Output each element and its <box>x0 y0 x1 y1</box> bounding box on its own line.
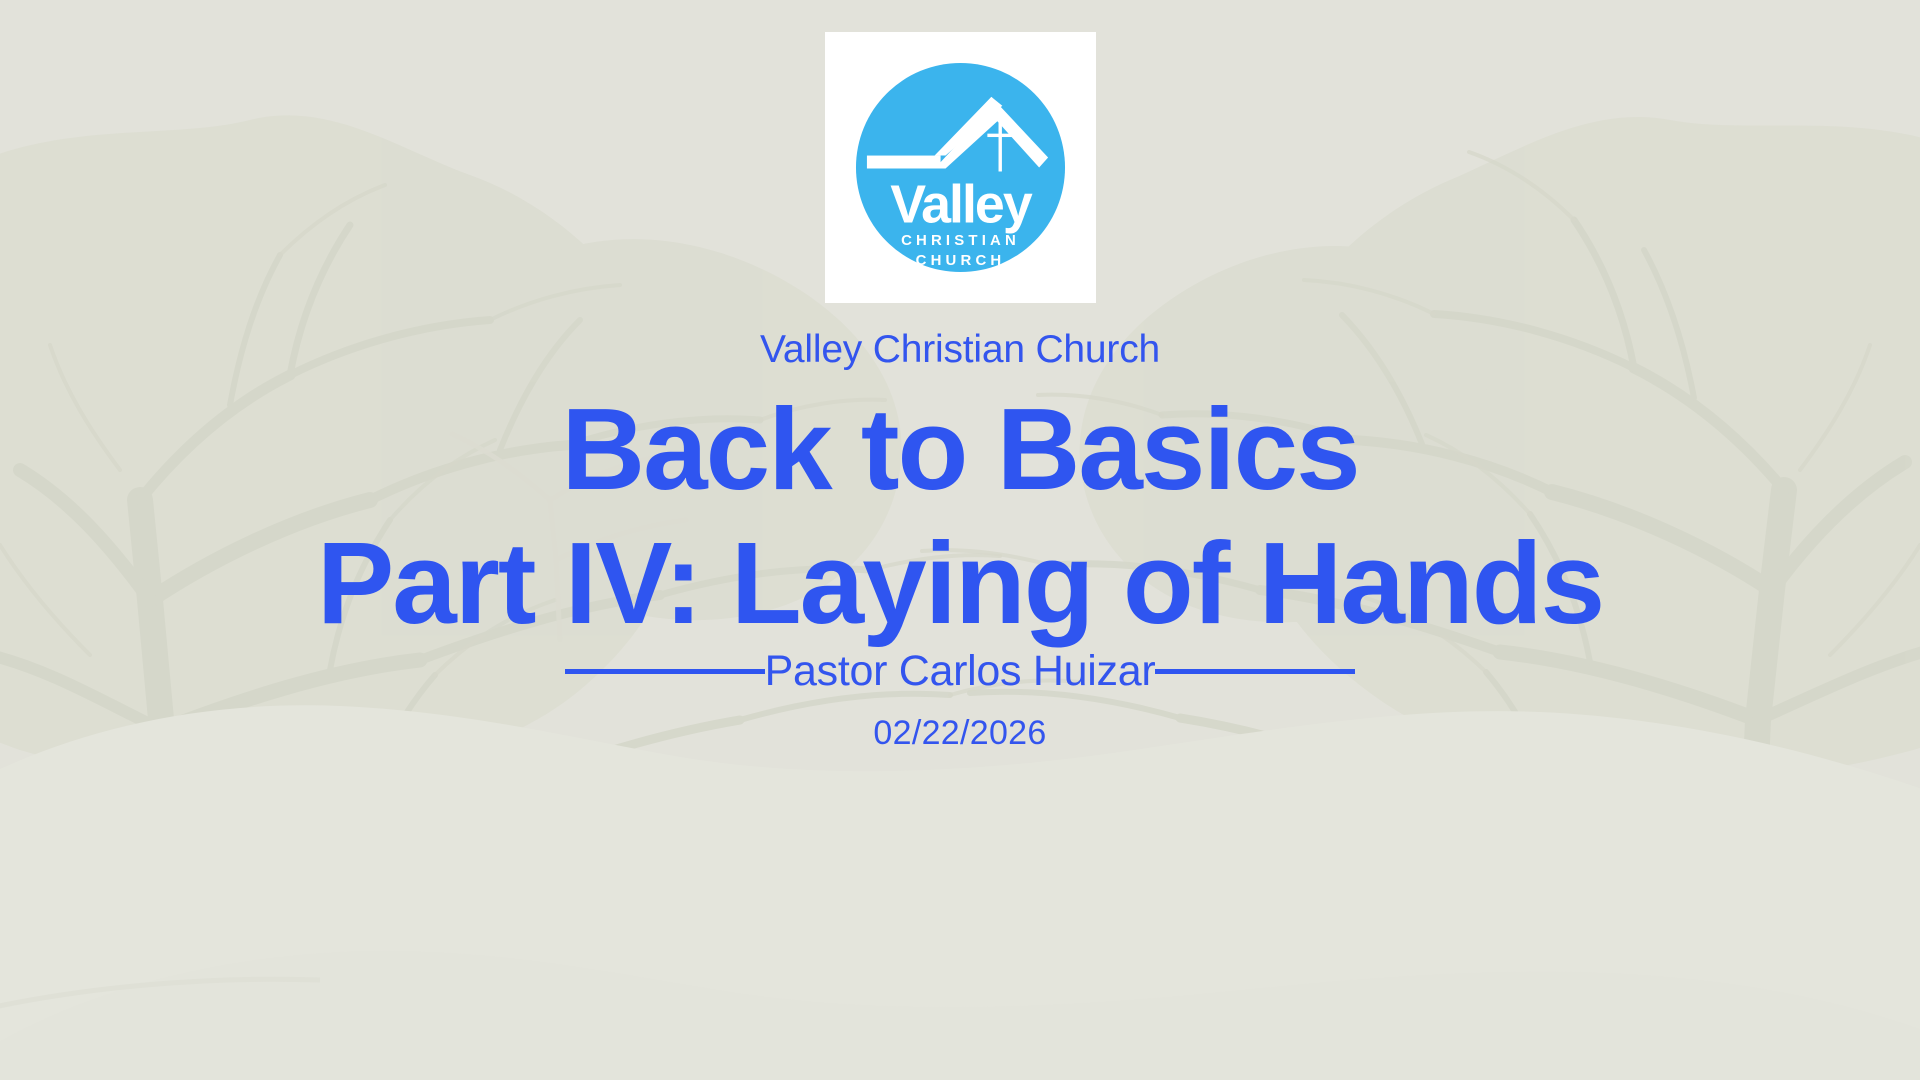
valley-christian-church-logo-icon: Valley CHRISTIAN CHURCH <box>851 58 1070 277</box>
sermon-title-line-2: Part IV: Laying of Hands <box>317 525 1603 641</box>
speaker-name: Pastor Carlos Huizar <box>0 650 1920 693</box>
church-name: Valley Christian Church <box>760 330 1160 369</box>
svg-text:CHRISTIAN: CHRISTIAN <box>901 232 1020 249</box>
slide-content: Valley CHRISTIAN CHURCH Valley Christian… <box>0 0 1920 1080</box>
sermon-title-line-1: Back to Basics <box>561 391 1358 507</box>
svg-text:Valley: Valley <box>890 174 1033 234</box>
church-logo-card: Valley CHRISTIAN CHURCH <box>825 32 1096 303</box>
sermon-date: 02/22/2026 <box>873 716 1046 750</box>
sermon-title-slide: Valley CHRISTIAN CHURCH Valley Christian… <box>0 0 1920 1080</box>
svg-text:CHURCH: CHURCH <box>915 252 1005 269</box>
speaker-row: Pastor Carlos Huizar <box>0 669 1920 674</box>
